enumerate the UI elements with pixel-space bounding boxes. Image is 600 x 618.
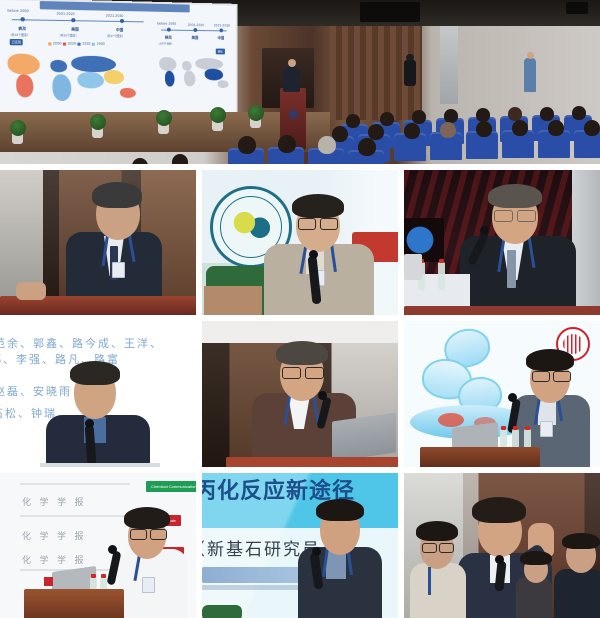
banner-auditorium-photo: before 2000 2001-2020 2021-2030 挨及 美国 中国… [0, 0, 600, 164]
country-sub-1: （共26个国家） [58, 33, 79, 37]
slide-name-line-3: 赵磊、安晓雨 [0, 383, 72, 399]
standing-attendant [524, 58, 536, 92]
slide-badge-left: 已实现 [10, 39, 23, 45]
slide-chem-line-1: 化 学 学 报 [22, 495, 87, 508]
slide-name-line-4: 石松、钟瑞 [0, 405, 57, 421]
photo-speaker-microphone-emblem-backdrop[interactable] [202, 170, 398, 315]
country2-label-0: 挨及 [165, 35, 172, 40]
timeline-label2-0: before 2000 [157, 22, 176, 26]
country-label-2: 中国 [116, 28, 123, 33]
timeline-label2-2: 2021-2030 [214, 24, 230, 28]
photo-speaker-name-list-slide[interactable]: 范余、郭鑫、路今成、王洋、 韩、李强、路凡、路富 赵磊、安晓雨 石松、钟瑞 [0, 321, 196, 466]
photo-speaker-brown-jacket-laptop[interactable] [202, 321, 398, 466]
slide-chem-line-3: 化 学 学 报 [22, 553, 87, 566]
country2-label-1: 美国 [192, 36, 199, 41]
timeline-label-2001-2020: 2001-2020 [57, 12, 75, 16]
legend-2: 2030 [82, 42, 90, 46]
country2-label-2: 中国 [218, 36, 225, 41]
timeline-node [21, 17, 25, 21]
photo-speaker-dark-suit-podium[interactable] [0, 170, 196, 315]
slide-legend: 2000 2020 2030 2060 [48, 41, 105, 46]
legend-0: 2000 [53, 41, 62, 45]
timeline-label-before2000: before 2000 [8, 9, 29, 14]
country-label-1: 美国 [71, 27, 78, 32]
timeline-label2-1: 2001-2020 [188, 23, 204, 27]
photo-collage: before 2000 2001-2020 2021-2030 挨及 美国 中国… [0, 0, 600, 618]
photographer-with-camera [404, 60, 416, 86]
journal-badge-1: Chemical Communications [146, 481, 196, 492]
country-sub-0: （共33个国家） [9, 33, 30, 37]
timeline-node [71, 18, 75, 22]
timeline-label-2021-2030: 2021-2030 [106, 14, 124, 18]
timeline-node [167, 28, 171, 32]
audience-seating [0, 92, 600, 164]
photo-grid: 范余、郭鑫、路今成、王洋、 韩、李强、路凡、路富 赵磊、安晓雨 石松、钟瑞 [0, 164, 600, 618]
country-sub-2: （共17个国家） [105, 34, 125, 38]
timeline-node [219, 28, 223, 32]
country2-sub: （共33个国家） [157, 41, 173, 45]
ceiling-vent [360, 2, 420, 22]
photo-speaker-water-droplet-slide[interactable] [404, 321, 600, 466]
legend-3: 2060 [97, 42, 105, 46]
photo-speaker-cyan-slide[interactable]: 丙化反应新途径 （新基石研究员） 3.10 [202, 473, 398, 618]
timeline-node [193, 28, 197, 32]
slide-badge-right: 目标 [216, 49, 225, 55]
slide-chem-line-2: 化 学 学 报 [22, 529, 87, 542]
slide-name-line-1: 范余、郭鑫、路今成、王洋、 [0, 335, 163, 351]
photo-speaker-journal-logos-slide[interactable]: 化 学 学 报 化 学 学 报 化 学 学 报 Chemical Communi… [0, 473, 196, 618]
ceiling-vent [566, 2, 588, 14]
country-label-0: 挨及 [18, 27, 26, 32]
timeline-node [120, 19, 124, 23]
legend-1: 2020 [68, 42, 76, 46]
photo-speaker-dark-red-backdrop[interactable] [404, 170, 600, 315]
speaker-at-podium [283, 66, 300, 92]
photo-speaker-raised-hand[interactable] [404, 473, 600, 618]
